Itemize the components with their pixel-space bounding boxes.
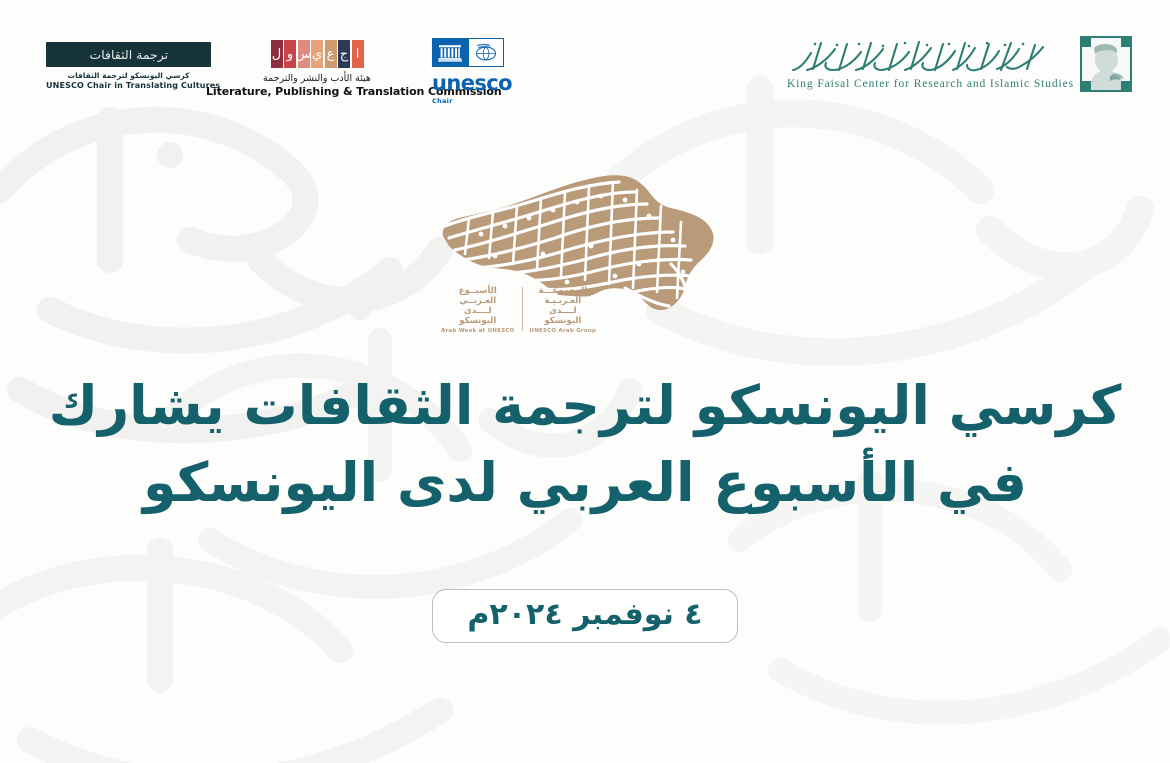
kfcris-arabic-calligraphy-svg: [787, 39, 1049, 77]
kfcris-english-line: King Faisal Center for Research and Isla…: [787, 78, 1074, 90]
lpt-tile-glyph-icon: ل: [271, 40, 283, 68]
lpt-tile: ل: [271, 40, 283, 68]
king-faisal-portrait-icon: [1080, 36, 1132, 92]
lpt-tile: ا: [352, 40, 364, 68]
lpt-tile: ي: [311, 40, 323, 68]
portrait-corner: [1082, 81, 1091, 90]
map-caption-ar-line: اليونسكو: [530, 316, 597, 326]
logo-unesco-chair: unesco Chair: [432, 38, 518, 105]
unesco-globe-icon-svg: [473, 43, 499, 63]
logo-literature-publishing-translation-commission: ل و س ي ع ج ا هيئة الأدب والنشر والترجمة…: [206, 40, 428, 98]
portrait-corner: [1121, 38, 1130, 47]
unesco-wordmark: unesco: [432, 73, 518, 94]
event-date-badge: ٤ نوفمبر ٢٠٢٤م: [432, 589, 737, 643]
chair-logo-arabic-line: كرسي اليونسكو لترجمة الثقافات: [46, 71, 211, 80]
logo-bar: ترجمة الثقافات كرسي اليونسكو لترجمة الثق…: [0, 0, 1170, 120]
map-caption-en-line: Arab Week at UNESCO: [441, 328, 515, 334]
lpt-tile-strip: ل و س ي ع ج ا: [206, 40, 428, 68]
map-caption-ar-line: العـربـيـة: [530, 296, 597, 306]
lpt-logo-english-line: Literature, Publishing & Translation Com…: [206, 85, 428, 98]
lpt-tile-glyph-icon: و: [284, 40, 296, 68]
unesco-chair-subtitle: Chair: [432, 97, 518, 105]
map-caption-ar-line: العـربــي: [441, 296, 515, 306]
map-caption-ar-line: لــــدى: [441, 306, 515, 316]
map-caption-ar-line: اليونسكو: [441, 316, 515, 326]
headline-line-2: في الأسبوع العربي لدى اليونسكو: [0, 445, 1170, 522]
kfcris-arabic-calligraphy: [787, 39, 1049, 77]
portrait-corner: [1082, 38, 1091, 47]
lpt-tile-glyph-icon: ي: [311, 40, 323, 68]
lpt-tile-glyph-icon: س: [298, 40, 310, 68]
lpt-tile: ع: [325, 40, 337, 68]
map-caption-ar-line: الأسبــوع: [441, 286, 515, 296]
kfcris-text-block: King Faisal Center for Research and Isla…: [787, 39, 1074, 90]
chair-logo-box: ترجمة الثقافات: [46, 42, 211, 67]
arab-week-map-logo: المجموعـــة العـربـيـة لــــدى اليونسكو …: [435, 168, 735, 338]
parthenon-icon: [433, 39, 468, 66]
lpt-tile-glyph-icon: ج: [338, 40, 350, 68]
lpt-tile: س: [298, 40, 310, 68]
map-caption-unesco-arab-group: المجموعـــة العـربـيـة لــــدى اليونسكو …: [530, 286, 597, 334]
lpt-tile: و: [284, 40, 296, 68]
map-caption-ar-line: المجموعـــة: [530, 286, 597, 296]
chair-logo-box-label: ترجمة الثقافات: [89, 48, 168, 62]
parthenon-icon-svg: [438, 43, 462, 62]
map-caption-arab-week-at-unesco: الأسبــوع العـربــي لــــدى اليونسكو Ara…: [441, 286, 515, 334]
portrait-corner: [1121, 81, 1130, 90]
logo-king-faisal-center: King Faisal Center for Research and Isla…: [787, 36, 1132, 92]
headline-line-1: كرسي اليونسكو لترجمة الثقافات يشارك: [0, 368, 1170, 445]
lpt-logo-arabic-line: هيئة الأدب والنشر والترجمة: [206, 73, 428, 84]
map-caption-en-line: UNESCO Arab Group: [530, 328, 597, 334]
map-logo-captions: المجموعـــة العـربـيـة لــــدى اليونسكو …: [441, 286, 596, 334]
logo-unesco-chair-translating-cultures: ترجمة الثقافات كرسي اليونسكو لترجمة الثق…: [46, 42, 211, 90]
unesco-globe-icon: [468, 39, 503, 66]
lpt-tile-glyph-icon: ع: [325, 40, 337, 68]
date-badge-container: ٤ نوفمبر ٢٠٢٤م: [0, 589, 1170, 643]
lpt-tile: ج: [338, 40, 350, 68]
map-caption-ar-line: لــــدى: [530, 306, 597, 316]
map-caption-divider: [522, 287, 523, 331]
unesco-emblem-pair: [432, 38, 504, 67]
lpt-tile-glyph-icon: ا: [352, 40, 364, 68]
chair-logo-english-line: UNESCO Chair in Translating Cultures: [46, 81, 211, 90]
headline: كرسي اليونسكو لترجمة الثقافات يشارك في ا…: [0, 368, 1170, 521]
